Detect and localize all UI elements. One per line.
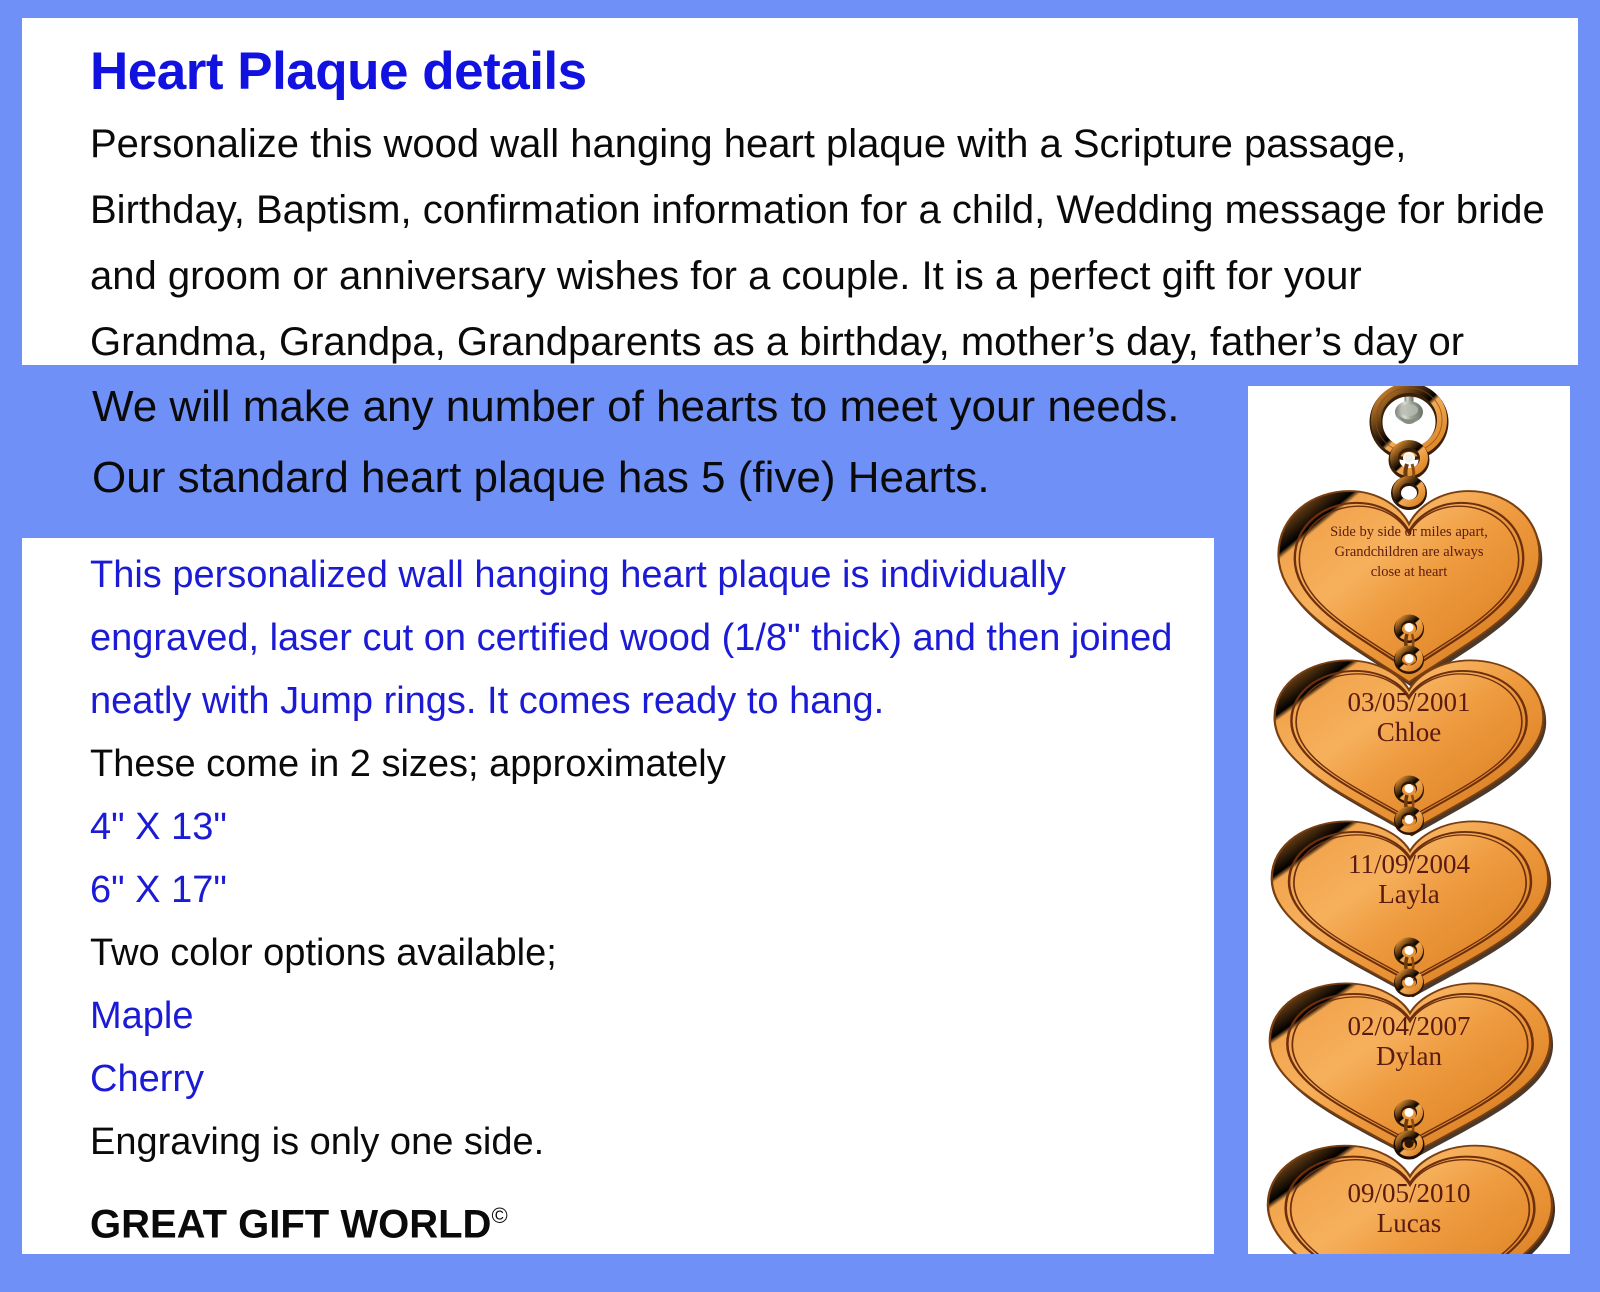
specs-intro: This personalized wall hanging heart pla… <box>90 544 1210 733</box>
heart-plaque-illustration: Side by side or miles apart, Grandchildr… <box>1248 386 1570 1254</box>
product-image-panel: Side by side or miles apart, Grandchildr… <box>1248 386 1570 1254</box>
specs-engraving-note: Engraving is only one side. <box>90 1111 1210 1174</box>
specs-color-1: Maple <box>90 985 1210 1048</box>
heart-2-name: Chloe <box>1377 717 1442 747</box>
specs-colors-label: Two color options available; <box>90 922 1210 985</box>
heart-2-loop <box>1398 649 1420 671</box>
page-title: Heart Plaque details <box>90 41 587 102</box>
heart-4-loop <box>1398 972 1420 994</box>
specs-sizes-label: These come in 2 sizes; approximately <box>90 733 1210 796</box>
ring-loop <box>1394 444 1424 474</box>
heart-1-line-3: close at heart <box>1371 564 1448 580</box>
heart-4-name: Dylan <box>1376 1041 1442 1071</box>
heart-1-loop <box>1396 480 1422 506</box>
description-panel: Heart Plaque details Personalize this wo… <box>22 18 1578 365</box>
heart-3-date: 11/09/2004 <box>1348 849 1471 879</box>
specs-color-2: Cherry <box>90 1048 1210 1111</box>
specs-size-1: 4" X 13" <box>90 796 1210 859</box>
band-line-2: Our standard heart plaque has 5 (five) H… <box>92 453 990 503</box>
heart-1-line-1: Side by side or miles apart, <box>1330 524 1488 540</box>
band-line-1: We will make any number of hearts to mee… <box>92 382 1179 432</box>
brand-logo: GREAT GIFT WORLD© <box>90 1184 1210 1256</box>
heart-4-date: 02/04/2007 <box>1347 1011 1470 1041</box>
heart-3-name: Layla <box>1378 879 1439 909</box>
specs-size-2: 6" X 17" <box>90 859 1210 922</box>
heart-5-loop <box>1398 1134 1420 1156</box>
poster-root: Heart Plaque details Personalize this wo… <box>0 0 1600 1292</box>
brand-name: GREAT GIFT WORLD <box>90 1202 491 1246</box>
hanger-assembly <box>1376 386 1442 486</box>
heart-5-date: 09/05/2010 <box>1347 1178 1470 1208</box>
heart-5-name: Lucas <box>1377 1208 1441 1238</box>
copyright-icon: © <box>491 1203 507 1228</box>
heart-3-loop <box>1398 810 1420 832</box>
specs-panel: This personalized wall hanging heart pla… <box>22 538 1214 1254</box>
heart-2-date: 03/05/2001 <box>1347 687 1470 717</box>
specs-list: This personalized wall hanging heart pla… <box>90 544 1210 1256</box>
heart-1-line-2: Grandchildren are always <box>1335 544 1484 560</box>
